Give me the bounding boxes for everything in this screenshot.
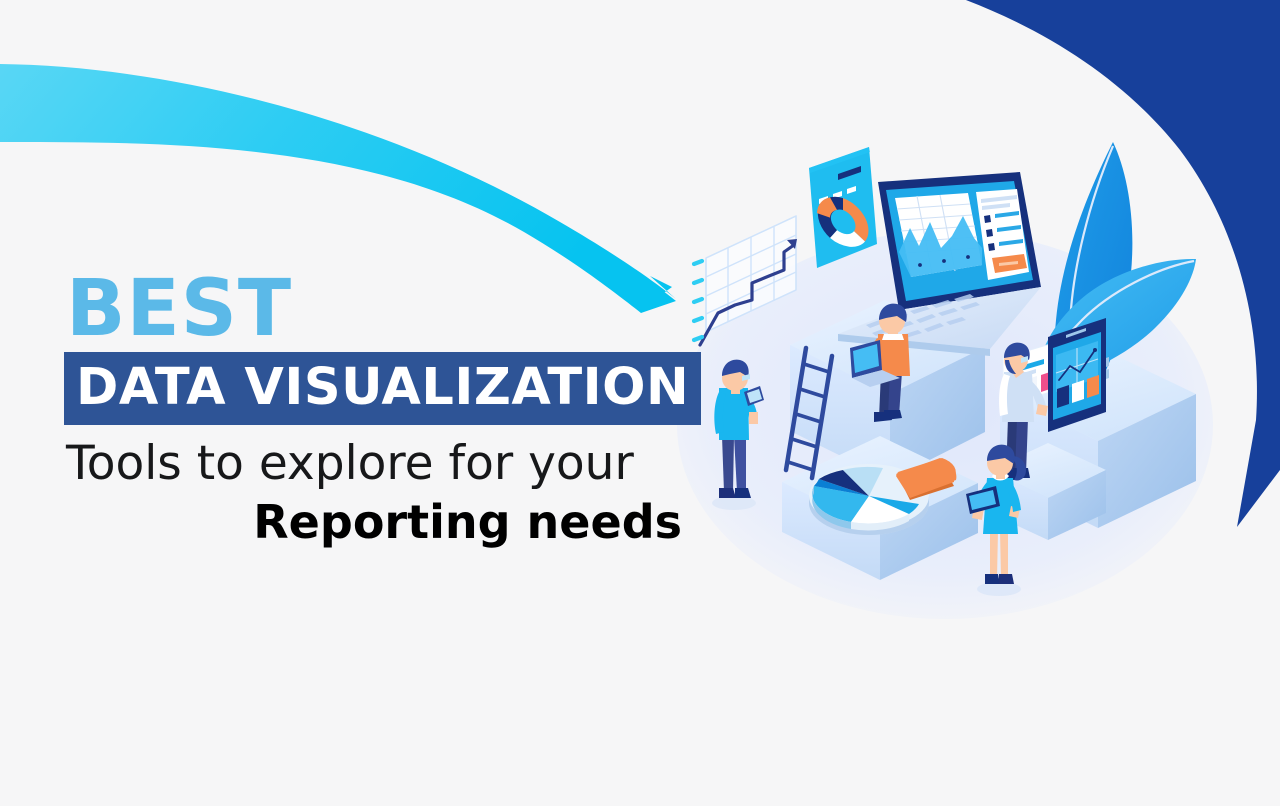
person-standing-phone xyxy=(712,360,764,510)
donut-chart-card xyxy=(809,147,877,268)
headline-block: BEST DATA VISUALIZATION Tools to explore… xyxy=(64,272,684,547)
tile-navy xyxy=(1057,385,1069,408)
headline-line-subtitle: Tools to explore for your xyxy=(66,439,684,488)
tile-orange xyxy=(1087,375,1099,398)
promo-banner: BEST DATA VISUALIZATION Tools to explore… xyxy=(0,0,1280,806)
laptop-area-chart xyxy=(895,193,982,277)
tile-white xyxy=(1072,380,1084,403)
axis-dashes xyxy=(694,261,702,340)
headline-line-best: BEST xyxy=(66,272,684,346)
headline-band-wrap: DATA VISUALIZATION xyxy=(64,352,684,425)
line-chart-grid xyxy=(700,216,797,345)
headline-line-data-visualization: DATA VISUALIZATION xyxy=(64,352,701,425)
headline-line-reporting-needs: Reporting needs xyxy=(64,498,684,546)
